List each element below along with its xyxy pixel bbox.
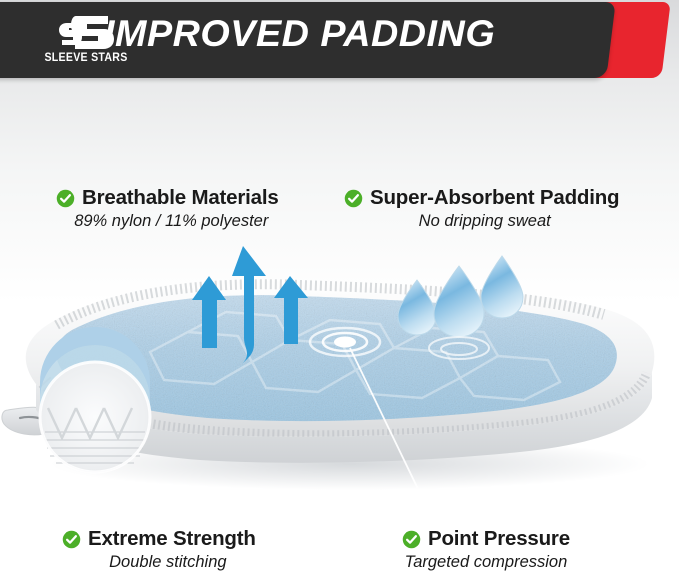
feature-subtitle: 89% nylon / 11% polyester bbox=[56, 212, 279, 231]
feature-title: Breathable Materials bbox=[82, 186, 279, 210]
feature-subtitle: Double stitching bbox=[62, 553, 256, 572]
feature-title: Super-Absorbent Padding bbox=[370, 186, 619, 210]
water-droplet-right bbox=[481, 256, 523, 318]
feature-extreme-strength: Extreme Strength Double stitching bbox=[62, 527, 256, 572]
green-check-circle-icon bbox=[344, 189, 363, 208]
water-droplet-center bbox=[434, 266, 484, 337]
page-title: IMPROVED PADDING bbox=[104, 13, 495, 55]
feature-point-pressure: Point Pressure Targeted compression bbox=[402, 527, 570, 572]
padded-insert-illustration bbox=[0, 232, 679, 512]
feature-subtitle: Targeted compression bbox=[402, 553, 570, 572]
green-check-circle-icon bbox=[62, 530, 81, 549]
feature-title: Extreme Strength bbox=[88, 527, 256, 551]
feature-super-absorbent-padding: Super-Absorbent Padding No dripping swea… bbox=[344, 186, 619, 231]
double-stitching-magnifier bbox=[40, 327, 150, 472]
product-infographic: SLEEVE STARS IMPROVED PADDING bbox=[0, 0, 679, 582]
header-banner: SLEEVE STARS IMPROVED PADDING bbox=[0, 0, 679, 86]
feature-subtitle: No dripping sweat bbox=[344, 212, 619, 231]
green-check-circle-icon bbox=[56, 189, 75, 208]
product-image bbox=[0, 232, 679, 512]
green-check-circle-icon bbox=[402, 530, 421, 549]
feature-title: Point Pressure bbox=[428, 527, 570, 551]
feature-breathable-materials: Breathable Materials 89% nylon / 11% pol… bbox=[56, 186, 279, 231]
header-dark-bar: SLEEVE STARS IMPROVED PADDING bbox=[0, 2, 616, 78]
